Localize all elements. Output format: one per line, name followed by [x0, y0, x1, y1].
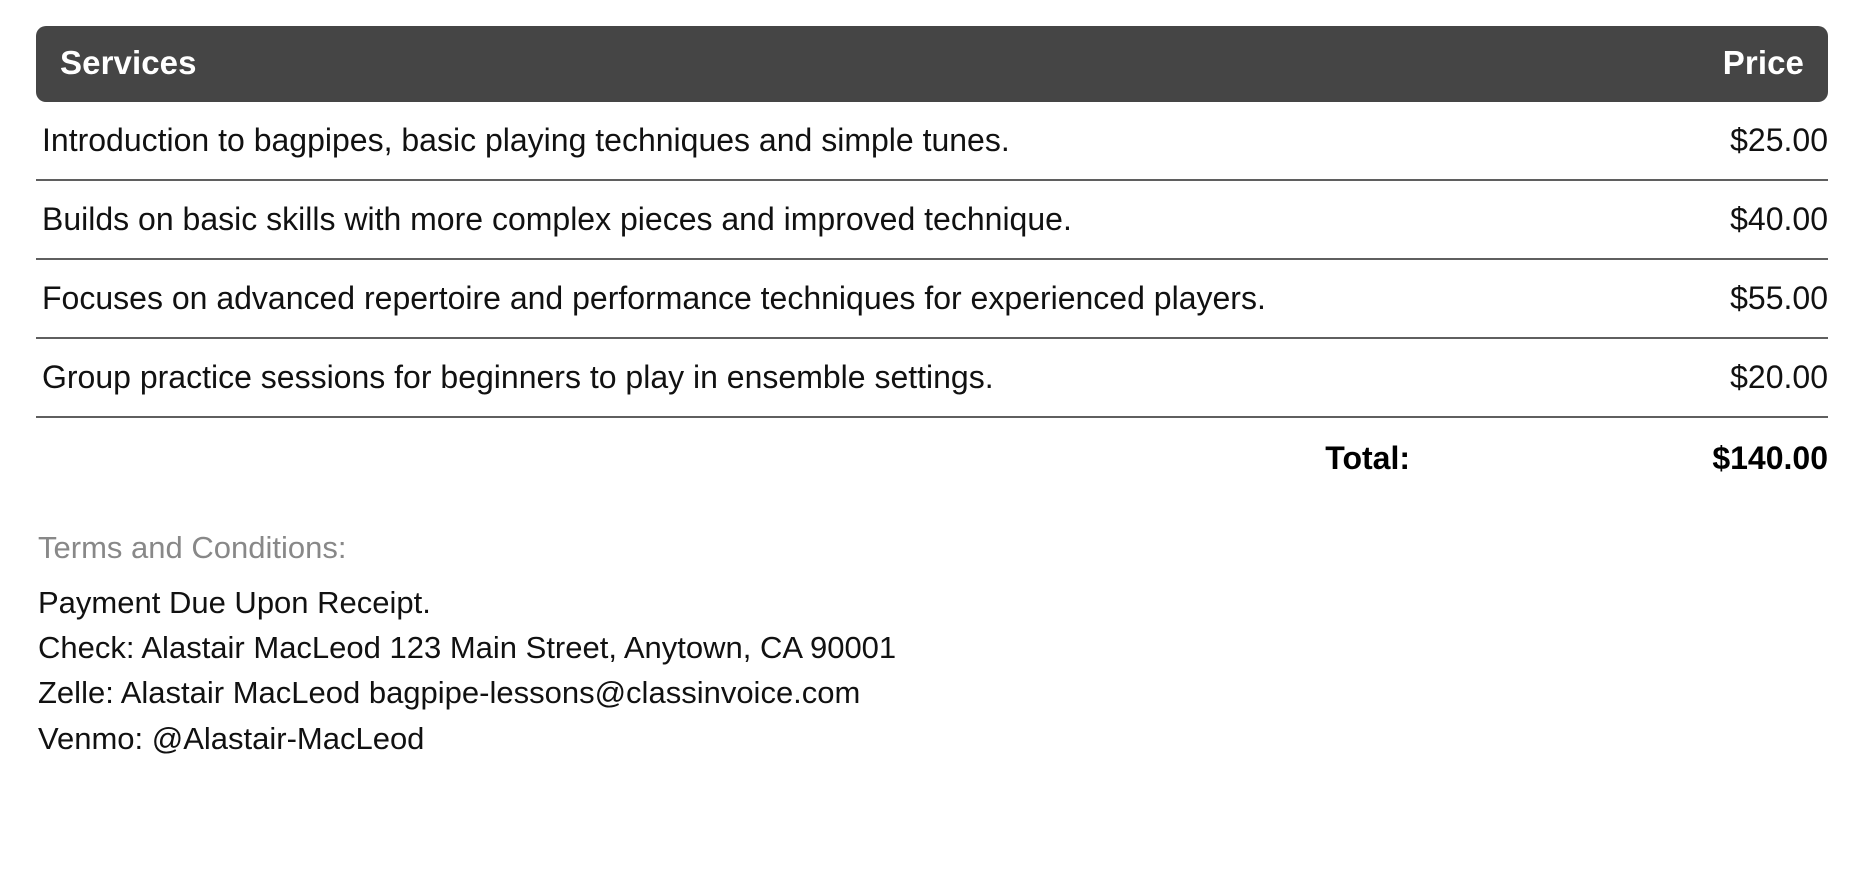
invoice-services-page: Services Price Introduction to bagpipes,…	[0, 0, 1868, 870]
table-row: Introduction to bagpipes, basic playing …	[36, 102, 1828, 180]
table-header-row: Services Price	[36, 26, 1828, 102]
table-row: Group practice sessions for beginners to…	[36, 338, 1828, 417]
service-description: Focuses on advanced repertoire and perfo…	[36, 259, 1500, 338]
terms-line-venmo: Venmo: @Alastair-MacLeod	[38, 716, 1828, 761]
total-label: Total:	[36, 417, 1500, 483]
total-row: Total: $140.00	[36, 417, 1828, 483]
services-table-head: Services Price	[36, 26, 1828, 102]
services-table: Services Price Introduction to bagpipes,…	[36, 26, 1828, 483]
column-header-services: Services	[36, 26, 1500, 102]
terms-title: Terms and Conditions:	[38, 529, 1828, 568]
service-description: Introduction to bagpipes, basic playing …	[36, 102, 1500, 180]
table-row: Builds on basic skills with more complex…	[36, 180, 1828, 259]
service-description: Group practice sessions for beginners to…	[36, 338, 1500, 417]
service-price: $25.00	[1500, 102, 1828, 180]
services-table-body: Introduction to bagpipes, basic playing …	[36, 102, 1828, 483]
total-value: $140.00	[1500, 417, 1828, 483]
service-price: $55.00	[1500, 259, 1828, 338]
service-price: $20.00	[1500, 338, 1828, 417]
service-price: $40.00	[1500, 180, 1828, 259]
table-row: Focuses on advanced repertoire and perfo…	[36, 259, 1828, 338]
terms-line-payment-due: Payment Due Upon Receipt.	[38, 580, 1828, 625]
column-header-price: Price	[1500, 26, 1828, 102]
terms-line-check: Check: Alastair MacLeod 123 Main Street,…	[38, 625, 1828, 670]
service-description: Builds on basic skills with more complex…	[36, 180, 1500, 259]
terms-and-conditions-section: Terms and Conditions: Payment Due Upon R…	[36, 529, 1828, 761]
terms-line-zelle: Zelle: Alastair MacLeod bagpipe-lessons@…	[38, 670, 1828, 715]
